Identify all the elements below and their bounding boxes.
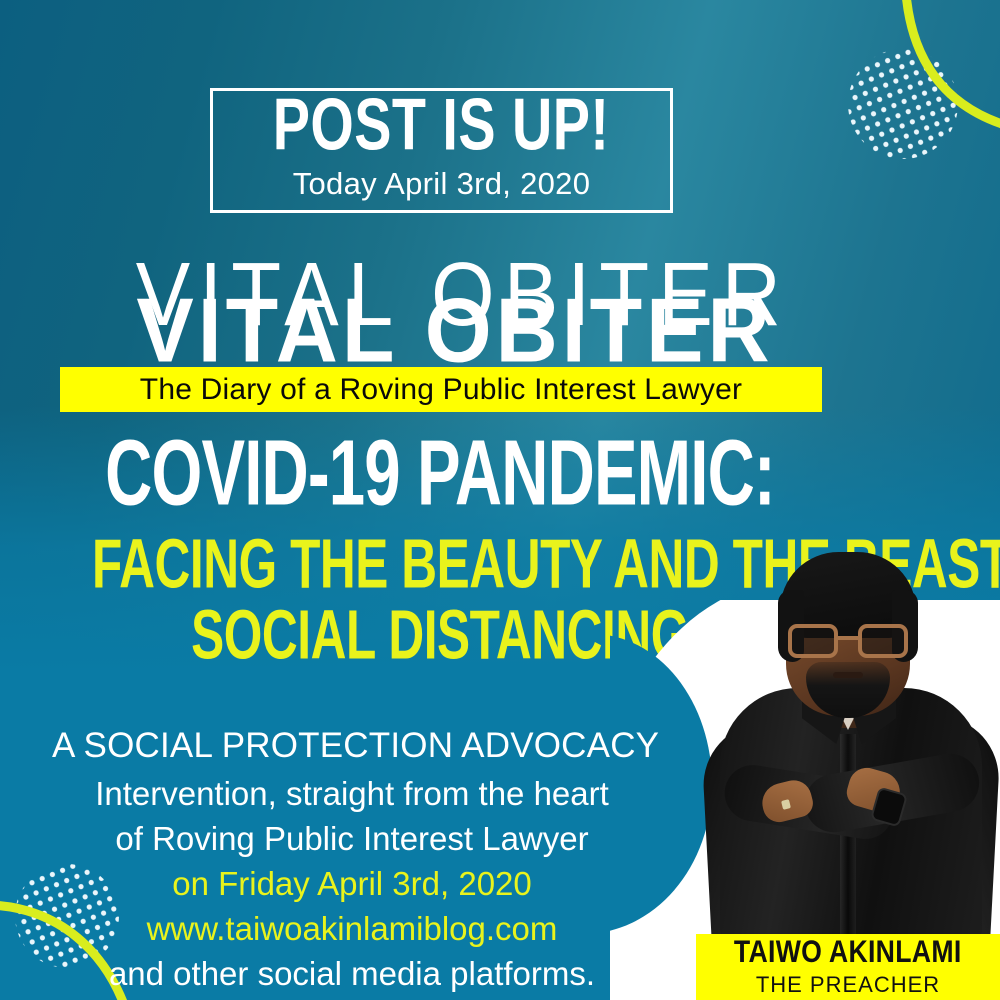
announcement-box: POST IS UP! Today April 3rd, 2020 xyxy=(210,88,673,213)
body-line-2: Intervention, straight from the heart xyxy=(52,775,652,813)
presenter-nameplate: TAIWO AKINLAMI THE PREACHER xyxy=(696,934,1000,1000)
body-line-3: of Roving Public Interest Lawyer xyxy=(52,820,652,858)
presenter-portrait-photo xyxy=(698,538,998,938)
presenter-role: THE PREACHER xyxy=(756,972,940,998)
body-copy-block: A SOCIAL PROTECTION ADVOCACY Interventio… xyxy=(52,726,652,993)
poster-canvas: POST IS UP! Today April 3rd, 2020 VITAL … xyxy=(0,0,1000,1000)
brand-wordmark: VITAL OBITER VITAL OBITER xyxy=(60,243,850,358)
body-line-5-website[interactable]: www.taiwoakinlamiblog.com xyxy=(52,910,652,948)
brand-tagline-bar: The Diary of a Roving Public Interest La… xyxy=(60,367,822,412)
brand-tagline-text: The Diary of a Roving Public Interest La… xyxy=(140,373,742,407)
presenter-name: TAIWO AKINLAMI xyxy=(734,934,962,970)
body-line-6: and other social media platforms. xyxy=(52,955,652,993)
body-line-4-event-date: on Friday April 3rd, 2020 xyxy=(52,865,652,903)
eyeglasses-icon xyxy=(788,624,908,658)
headline-main: COVID-19 PANDEMIC: xyxy=(96,430,784,519)
announcement-title: POST IS UP! xyxy=(273,92,610,161)
body-line-1: A SOCIAL PROTECTION ADVOCACY xyxy=(52,726,652,766)
announcement-date: Today April 3rd, 2020 xyxy=(293,166,591,202)
headline-subtitle-line-1: FACING THE BEAUTY AND THE BEAST OF xyxy=(92,529,788,600)
